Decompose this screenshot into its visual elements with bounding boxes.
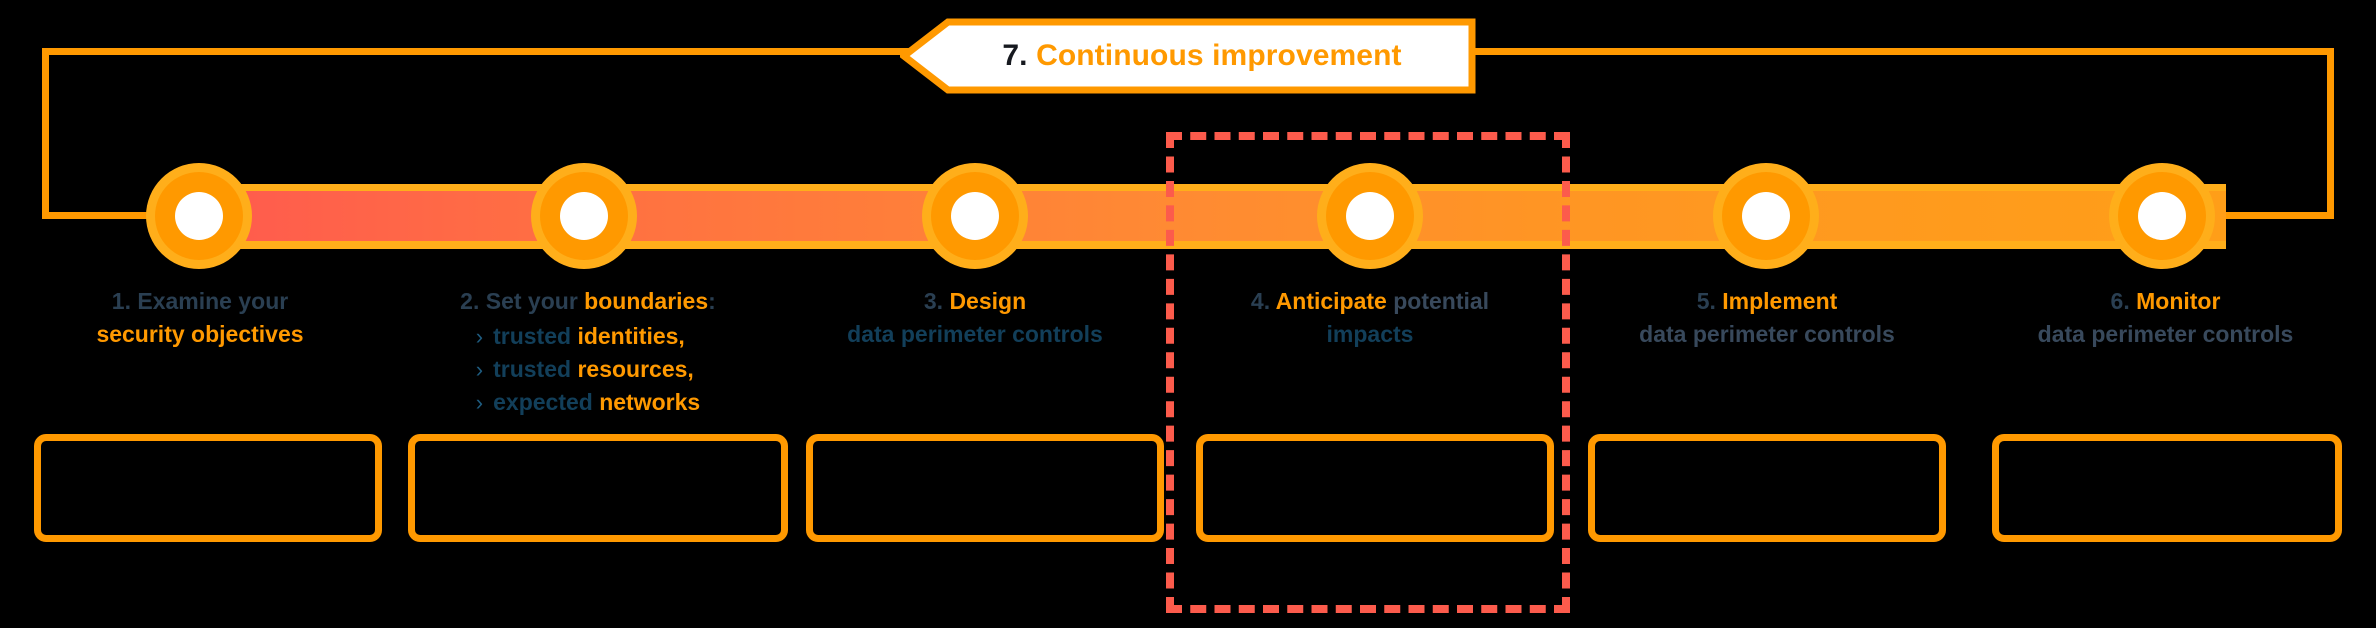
step-2-bullet-list: ›trusted identities, ›trusted resources,… — [476, 320, 700, 420]
step-2-plain: Set your — [486, 288, 578, 314]
step-5-plain: data perimeter controls — [1639, 321, 1895, 347]
placeholder-box-6[interactable] — [1992, 434, 2342, 542]
node-center-2 — [560, 192, 608, 240]
loop-frame-right — [2327, 48, 2334, 219]
list-item: ›trusted resources, — [476, 353, 700, 386]
node-ring-2 — [540, 172, 628, 260]
step-caption-6: 6. Monitor data perimeter controls — [1978, 285, 2353, 350]
step-node-3[interactable] — [922, 163, 1028, 269]
chevron-right-icon: › — [476, 324, 483, 349]
progress-rail — [199, 191, 2226, 242]
chevron-right-icon: › — [476, 390, 483, 415]
step-caption-3-line2: data perimeter controls — [790, 318, 1160, 351]
bullet-3-plain: expected — [493, 389, 593, 415]
node-ring-1 — [155, 172, 243, 260]
step-caption-4-line2: impacts — [1185, 318, 1555, 351]
loop-frame-left — [42, 48, 49, 219]
step-caption-5-line1: 5. Implement — [1582, 285, 1952, 318]
step-6-bold: Monitor — [2136, 288, 2220, 314]
list-item: ›expected networks — [476, 386, 700, 419]
step-1-number: 1. — [112, 288, 131, 314]
step-6-number: 6. — [2111, 288, 2130, 314]
step-caption-5-line2: data perimeter controls — [1582, 318, 1952, 351]
placeholder-box-5[interactable] — [1588, 434, 1946, 542]
node-ring-3 — [931, 172, 1019, 260]
node-center-5 — [1742, 192, 1790, 240]
banner-text: 7. Continuous improvement — [974, 39, 1401, 73]
chevron-right-icon: › — [476, 357, 483, 382]
step-node-1[interactable] — [146, 163, 252, 269]
step-1-bold: security objectives — [96, 321, 303, 347]
step-4-bold: Anticipate — [1276, 288, 1387, 314]
step-caption-2-line1: 2. Set your boundaries: — [398, 285, 778, 318]
step-2-bold: boundaries — [584, 288, 708, 314]
bullet-1-bold: identities, — [577, 323, 684, 349]
step-caption-2: 2. Set your boundaries: ›trusted identit… — [398, 285, 778, 420]
step-node-4[interactable] — [1317, 163, 1423, 269]
step-3-plain: data perimeter controls — [847, 321, 1103, 347]
step-2-suffix: : — [708, 288, 716, 314]
banner-step-number: 7. — [1002, 39, 1027, 72]
rail-bottom-edge — [199, 241, 2226, 249]
data-perimeter-journey-diagram: 7. Continuous improvement 1. Examine you… — [0, 0, 2376, 628]
node-center-1 — [175, 192, 223, 240]
step-caption-3-line1: 3. Design — [790, 285, 1160, 318]
node-ring-4 — [1326, 172, 1414, 260]
step-1-plain: Examine your — [137, 288, 288, 314]
node-center-4 — [1346, 192, 1394, 240]
step-caption-5: 5. Implement data perimeter controls — [1582, 285, 1952, 350]
bullet-2-bold: resources, — [577, 356, 693, 382]
node-center-6 — [2138, 192, 2186, 240]
step-node-2[interactable] — [531, 163, 637, 269]
step-caption-6-line2: data perimeter controls — [1978, 318, 2353, 351]
step-3-number: 3. — [924, 288, 943, 314]
step-caption-1: 1. Examine your security objectives — [20, 285, 380, 350]
step-5-bold: Implement — [1722, 288, 1837, 314]
step-caption-6-line1: 6. Monitor — [1978, 285, 2353, 318]
step-2-number: 2. — [460, 288, 479, 314]
step-6-plain: data perimeter controls — [2038, 321, 2294, 347]
step-4-number: 4. — [1251, 288, 1270, 314]
bullet-1-plain: trusted — [493, 323, 571, 349]
placeholder-box-1[interactable] — [34, 434, 382, 542]
step-caption-1-line1: 1. Examine your — [20, 285, 380, 318]
bullet-2-plain: trusted — [493, 356, 571, 382]
node-ring-6 — [2118, 172, 2206, 260]
node-center-3 — [951, 192, 999, 240]
step-node-6[interactable] — [2109, 163, 2215, 269]
step-4-plain2: impacts — [1327, 321, 1414, 347]
step-5-number: 5. — [1697, 288, 1716, 314]
step-caption-1-line2: security objectives — [20, 318, 380, 351]
list-item: ›trusted identities, — [476, 320, 700, 353]
step-node-5[interactable] — [1713, 163, 1819, 269]
banner-step-label: Continuous improvement — [1036, 39, 1402, 72]
continuous-improvement-banner: 7. Continuous improvement — [900, 18, 1476, 94]
node-ring-5 — [1722, 172, 1810, 260]
step-caption-3: 3. Design data perimeter controls — [790, 285, 1160, 350]
placeholder-box-3[interactable] — [806, 434, 1164, 542]
bullet-3-bold: networks — [599, 389, 700, 415]
step-caption-4-line1: 4. Anticipate potential — [1185, 285, 1555, 318]
step-4-plain: potential — [1393, 288, 1489, 314]
step-caption-4: 4. Anticipate potential impacts — [1185, 285, 1555, 350]
step-3-bold: Design — [949, 288, 1026, 314]
placeholder-box-4[interactable] — [1196, 434, 1554, 542]
placeholder-box-2[interactable] — [408, 434, 788, 542]
